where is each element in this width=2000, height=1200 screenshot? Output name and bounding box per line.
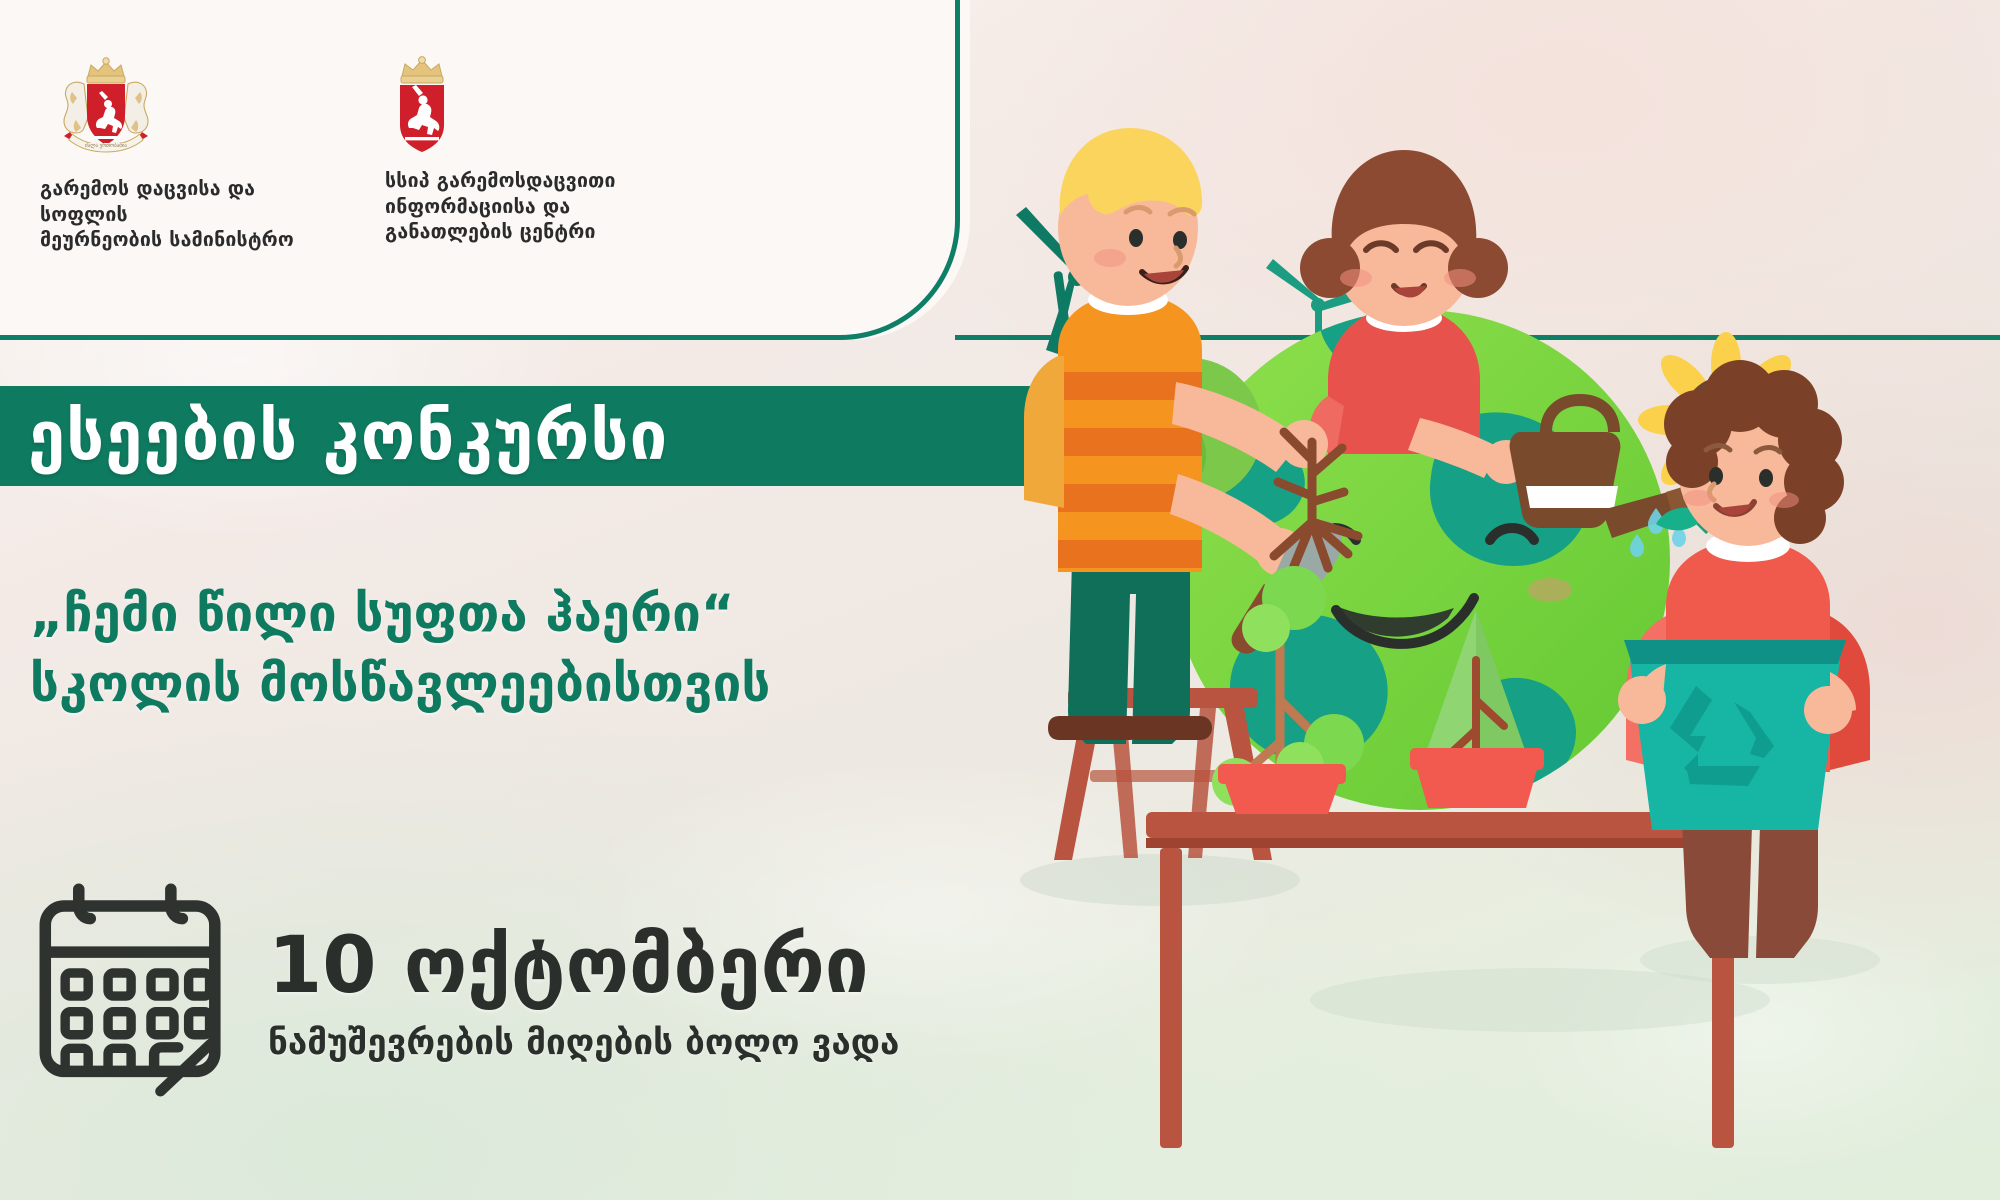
- deadline-date: 10 ოქტომბერი: [268, 926, 899, 1008]
- logo-center-text: სსიპ გარემოსდაცვითი ინფორმაციისა და განა…: [385, 168, 665, 245]
- crown-icon: [87, 58, 125, 83]
- flower-pot: [1416, 766, 1538, 808]
- logo-center-line-2: ინფორმაციისა და: [385, 194, 665, 220]
- calendar-icon: [24, 883, 234, 1108]
- logo-ministry-line-2: მეურნეობის სამინისტრო: [40, 227, 340, 253]
- poster-root: ძალა ერთობაშია გარემოს დაცვისა და სოფლის…: [0, 0, 2000, 1200]
- svg-text:ძალა ერთობაშია: ძალა ერთობაშია: [85, 142, 127, 149]
- georgia-greater-coat-of-arms-icon: ძალა ერთობაშია: [50, 50, 162, 162]
- deadline-caption: ნამუშევრების მიღების ბოლო ვადა: [268, 1022, 899, 1064]
- logo-center-line-1: სსიპ გარემოსდაცვითი: [385, 168, 665, 194]
- flower-pot: [1224, 780, 1340, 814]
- logo-ministry-text: გარემოს დაცვისა და სოფლის მეურნეობის სამ…: [40, 176, 340, 253]
- deadline-text: 10 ოქტომბერი ნამუშევრების მიღების ბოლო ვ…: [268, 926, 899, 1064]
- boy-holding-recycling-bin: [1618, 360, 1870, 958]
- georgia-lesser-coat-of-arms-icon: [389, 50, 455, 156]
- logo-center: სსიპ გარემოსდაცვითი ინფორმაციისა და განა…: [385, 50, 665, 245]
- page-title: ესეების კონკურსი: [28, 403, 668, 470]
- kids-planting-earth-illustration: [860, 0, 2000, 1200]
- logo-center-line-3: განათლების ცენტრი: [385, 219, 665, 245]
- logo-ministry-line-1: გარემოს დაცვისა და სოფლის: [40, 176, 340, 227]
- crown-icon: [401, 57, 443, 83]
- logo-group: ძალა ერთობაშია გარემოს დაცვისა და სოფლის…: [0, 0, 900, 270]
- logo-ministry: ძალა ერთობაშია გარემოს დაცვისა და სოფლის…: [40, 50, 340, 253]
